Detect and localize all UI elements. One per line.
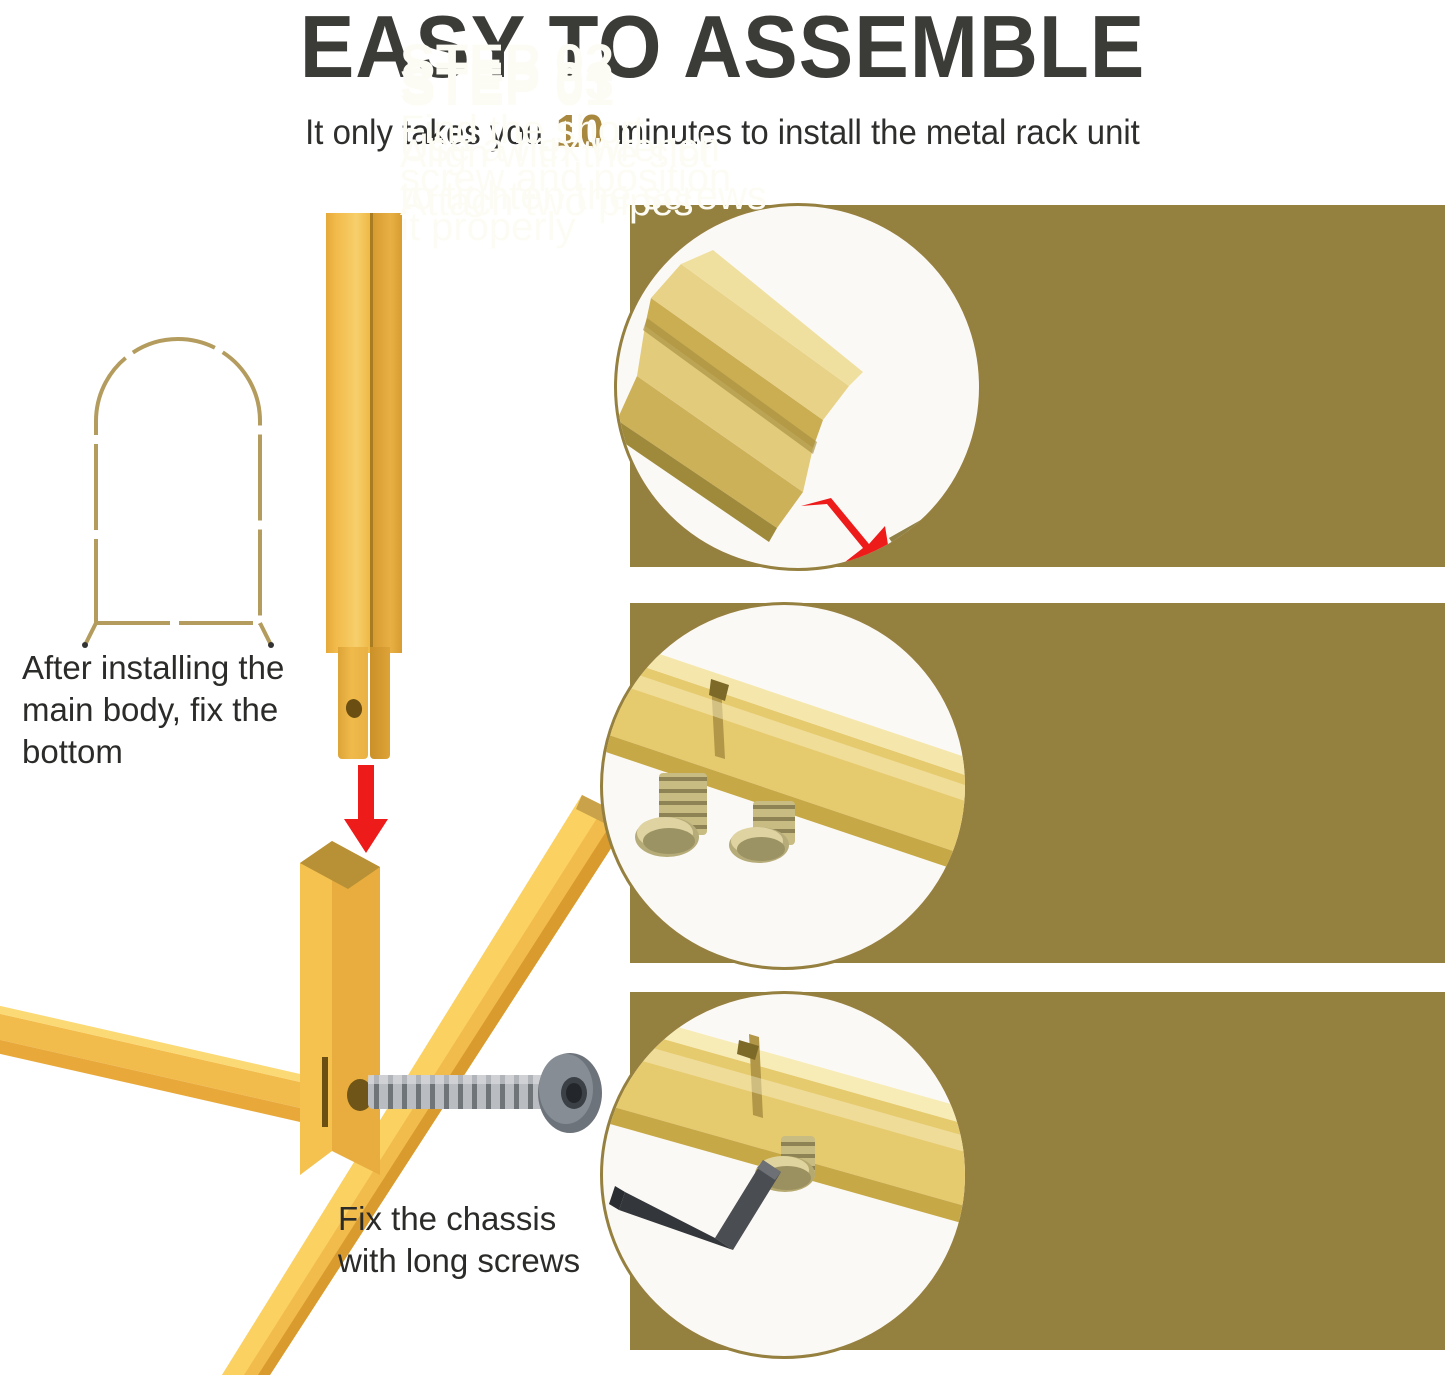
hex-wrench-icon — [609, 1160, 781, 1250]
short-screw-1 — [635, 773, 707, 857]
left-caption: After installing the main body, fix the … — [22, 647, 312, 774]
step-03-title: STEP 03 — [400, 54, 767, 110]
step-03-description: Use a hex wrench to tighten the screws — [400, 124, 767, 222]
infographic-page: EASY TO ASSEMBLE It only takes you 10 mi… — [0, 0, 1445, 1392]
long-pipe-shape — [617, 250, 863, 542]
hex-wrench-photo — [603, 994, 965, 1356]
step-02-inset — [600, 602, 968, 970]
post-face-right — [373, 213, 402, 653]
vertical-gold-post — [326, 213, 402, 653]
post-face-left — [326, 213, 370, 653]
chassis-bar-left — [0, 999, 322, 1127]
short-screw-2 — [729, 801, 795, 863]
pipe-alignment-photo — [617, 206, 979, 568]
short-screws-photo — [603, 605, 965, 967]
step-panel-3-text: STEP 03 Use a hex wrench to tighten the … — [400, 54, 767, 221]
post-tenon — [338, 647, 390, 759]
bottom-caption: Fix the chassis with long screws — [338, 1198, 638, 1282]
step-01-inset — [614, 203, 982, 571]
step-03-inset — [600, 991, 968, 1359]
cross-base-chassis — [0, 775, 650, 1375]
tenon-face-right — [370, 647, 390, 759]
chassis-center-socket — [300, 841, 380, 1175]
assembly-diagram: After installing the main body, fix the … — [0, 185, 640, 1365]
arch-frame-outline-icon — [78, 325, 278, 655]
